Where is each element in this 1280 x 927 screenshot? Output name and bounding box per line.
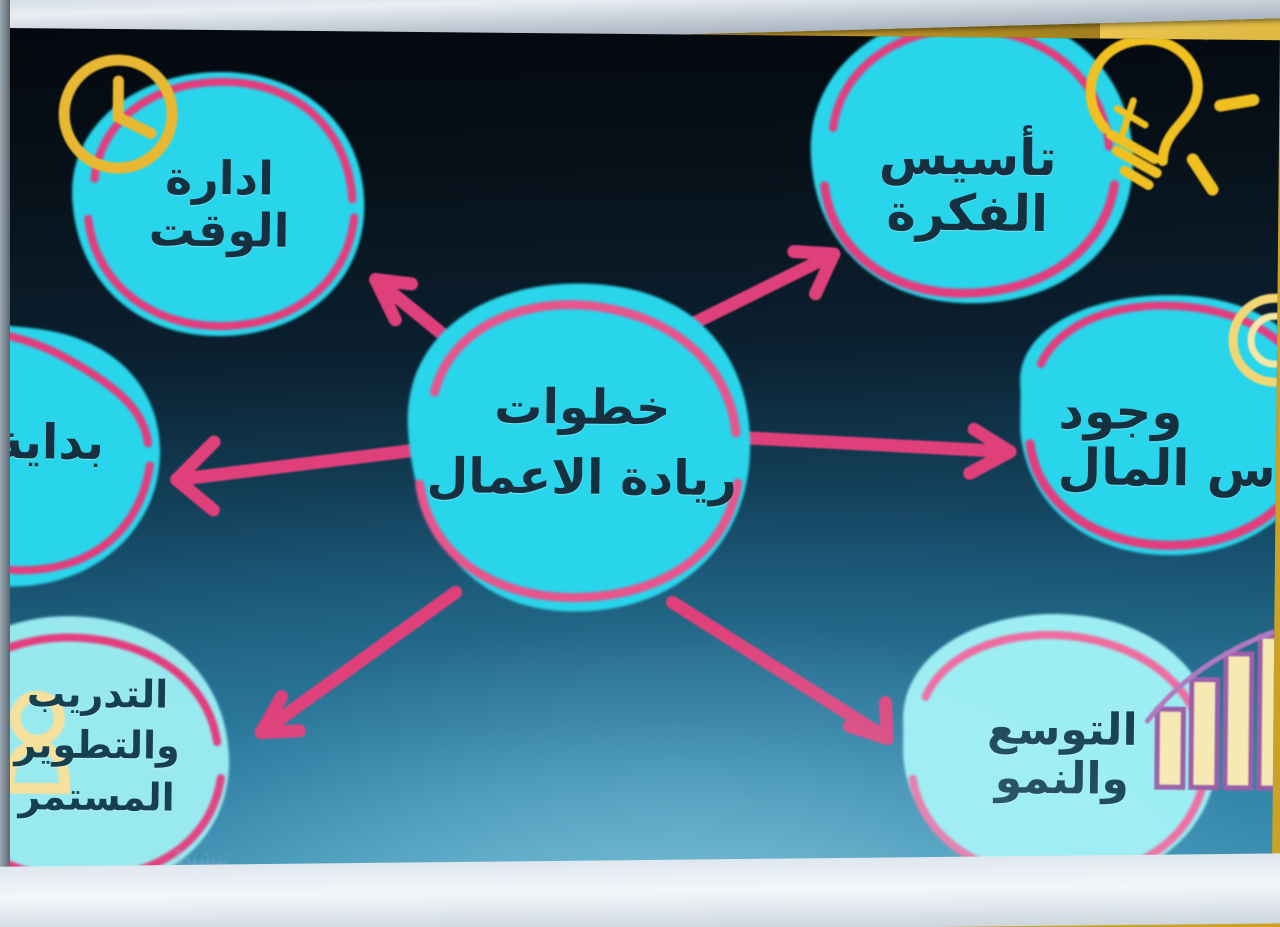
lightbulb-icon [1090, 28, 1255, 190]
screen-bezel-bottom [0, 853, 1280, 927]
coin-icon [1233, 298, 1280, 383]
clock-icon [64, 60, 173, 169]
icon-layer [0, 28, 1280, 885]
bar-chart-icon [1147, 631, 1280, 788]
person-icon [9, 696, 66, 789]
photo-canvas: ادارة الوقت تأسيس الفكرة بداية ال وجود س… [0, 0, 1280, 927]
projection-screen: ادارة الوقت تأسيس الفكرة بداية ال وجود س… [0, 28, 1280, 885]
screen-bezel-left [0, 0, 10, 927]
